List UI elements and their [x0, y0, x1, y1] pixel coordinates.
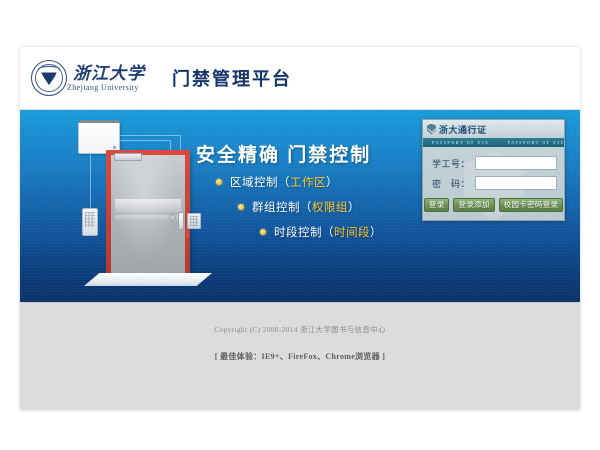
cable-segment: [118, 140, 170, 141]
page-frame: 浙江大学 Zhejiang University 门禁管理平台: [20, 47, 580, 410]
cable-segment: [90, 152, 91, 208]
feature-tail: ）: [370, 224, 382, 240]
page-title: 门禁管理平台: [172, 65, 292, 91]
door-illustration: [62, 118, 207, 296]
feature-label: 时段控制（: [274, 224, 334, 240]
brand-name-cn: 浙江大学: [73, 65, 145, 82]
keypad-reader-icon: [82, 208, 98, 236]
ribbon-text: PASSPORT OF ZJU: [499, 141, 564, 145]
login-button-row: 登录 登录添加 校园卡密码登录: [430, 198, 557, 212]
brand-text: 浙江大学 Zhejiang University: [67, 65, 145, 92]
feature-highlight: 工作区: [290, 174, 326, 190]
login-form: 学工号： 密 码： 登录 登录添加 校园卡密码登录: [423, 147, 564, 220]
username-label: 学工号：: [430, 157, 470, 170]
hero-banner: 安全精确 门禁控制 区域控制（ 工作区 ） 群组控制（ 权限组 ） 时段控制（ …: [20, 110, 580, 302]
banner-feature-item: 时段控制（ 时间段 ）: [260, 224, 382, 240]
username-input[interactable]: [475, 156, 557, 170]
password-label: 密 码：: [430, 177, 470, 190]
controller-led-icon: [113, 146, 116, 149]
banner-feature-list: 区域控制（ 工作区 ） 群组控制（ 权限组 ） 时段控制（ 时间段 ）: [216, 174, 382, 249]
feature-label: 区域控制（: [230, 174, 290, 190]
door-frame-shape: [106, 150, 190, 277]
login-button[interactable]: 登录: [424, 198, 450, 212]
passport-ribbon: PASSPORT OF ZJU PASSPORT OF ZJU PASSPORT…: [423, 138, 564, 147]
cable-segment: [118, 135, 180, 136]
door-status-indicator: [186, 230, 189, 238]
card-reader-grid-shape: [190, 216, 198, 226]
banner-feature-item: 区域控制（ 工作区 ）: [216, 174, 382, 190]
banner-headline: 安全精确 门禁控制: [196, 140, 371, 167]
door-knob-icon: [169, 214, 176, 221]
login-panel-header: 浙大通行证 PASSPORT OF ZJU: [423, 120, 564, 138]
site-footer: Copyright (C) 2008-2014 浙江大学图书与信息中心 [ 最佳…: [20, 302, 580, 410]
login-add-button[interactable]: 登录添加: [453, 198, 494, 212]
browser-support-note: [ 最佳体验：IE9+、FireFox、Chrome浏览器 ]: [20, 335, 580, 362]
campus-card-login-button[interactable]: 校园卡密码登录: [499, 198, 564, 212]
brand-name-en: Zhejiang University: [67, 84, 145, 92]
password-input[interactable]: [475, 176, 557, 190]
floor-platform-shape: [84, 273, 212, 286]
username-row: 学工号：: [430, 156, 557, 170]
seal-emblem-shape: [41, 72, 57, 85]
feature-tail: ）: [348, 199, 360, 215]
keypad-keys-shape: [85, 212, 95, 227]
zju-seal-icon: [31, 60, 67, 96]
door-closer-icon: [114, 153, 142, 161]
password-row: 密 码：: [430, 176, 557, 190]
ribbon-text: PASSPORT OF ZJU: [423, 141, 499, 145]
feature-highlight: 权限组: [312, 199, 348, 215]
shield-icon: [427, 124, 436, 135]
door-handle-icon: [178, 212, 184, 230]
site-header: 浙江大学 Zhejiang University 门禁管理平台: [20, 47, 580, 110]
feature-highlight: 时间段: [334, 224, 370, 240]
feature-label: 群组控制（: [252, 199, 312, 215]
brand-logo[interactable]: 浙江大学 Zhejiang University: [31, 60, 145, 96]
login-panel: 浙大通行证 PASSPORT OF ZJU PASSPORT OF ZJU PA…: [422, 119, 565, 221]
copyright-text: Copyright (C) 2008-2014 浙江大学图书与信息中心: [20, 303, 580, 335]
feature-tail: ）: [326, 174, 338, 190]
bullet-dot-icon: [216, 179, 222, 185]
bullet-dot-icon: [238, 204, 244, 210]
login-panel-subtitle: PASSPORT OF ZJU: [439, 131, 484, 135]
banner-feature-item: 群组控制（ 权限组 ）: [238, 199, 382, 215]
bullet-dot-icon: [260, 229, 266, 235]
card-reader-icon: [187, 213, 201, 229]
